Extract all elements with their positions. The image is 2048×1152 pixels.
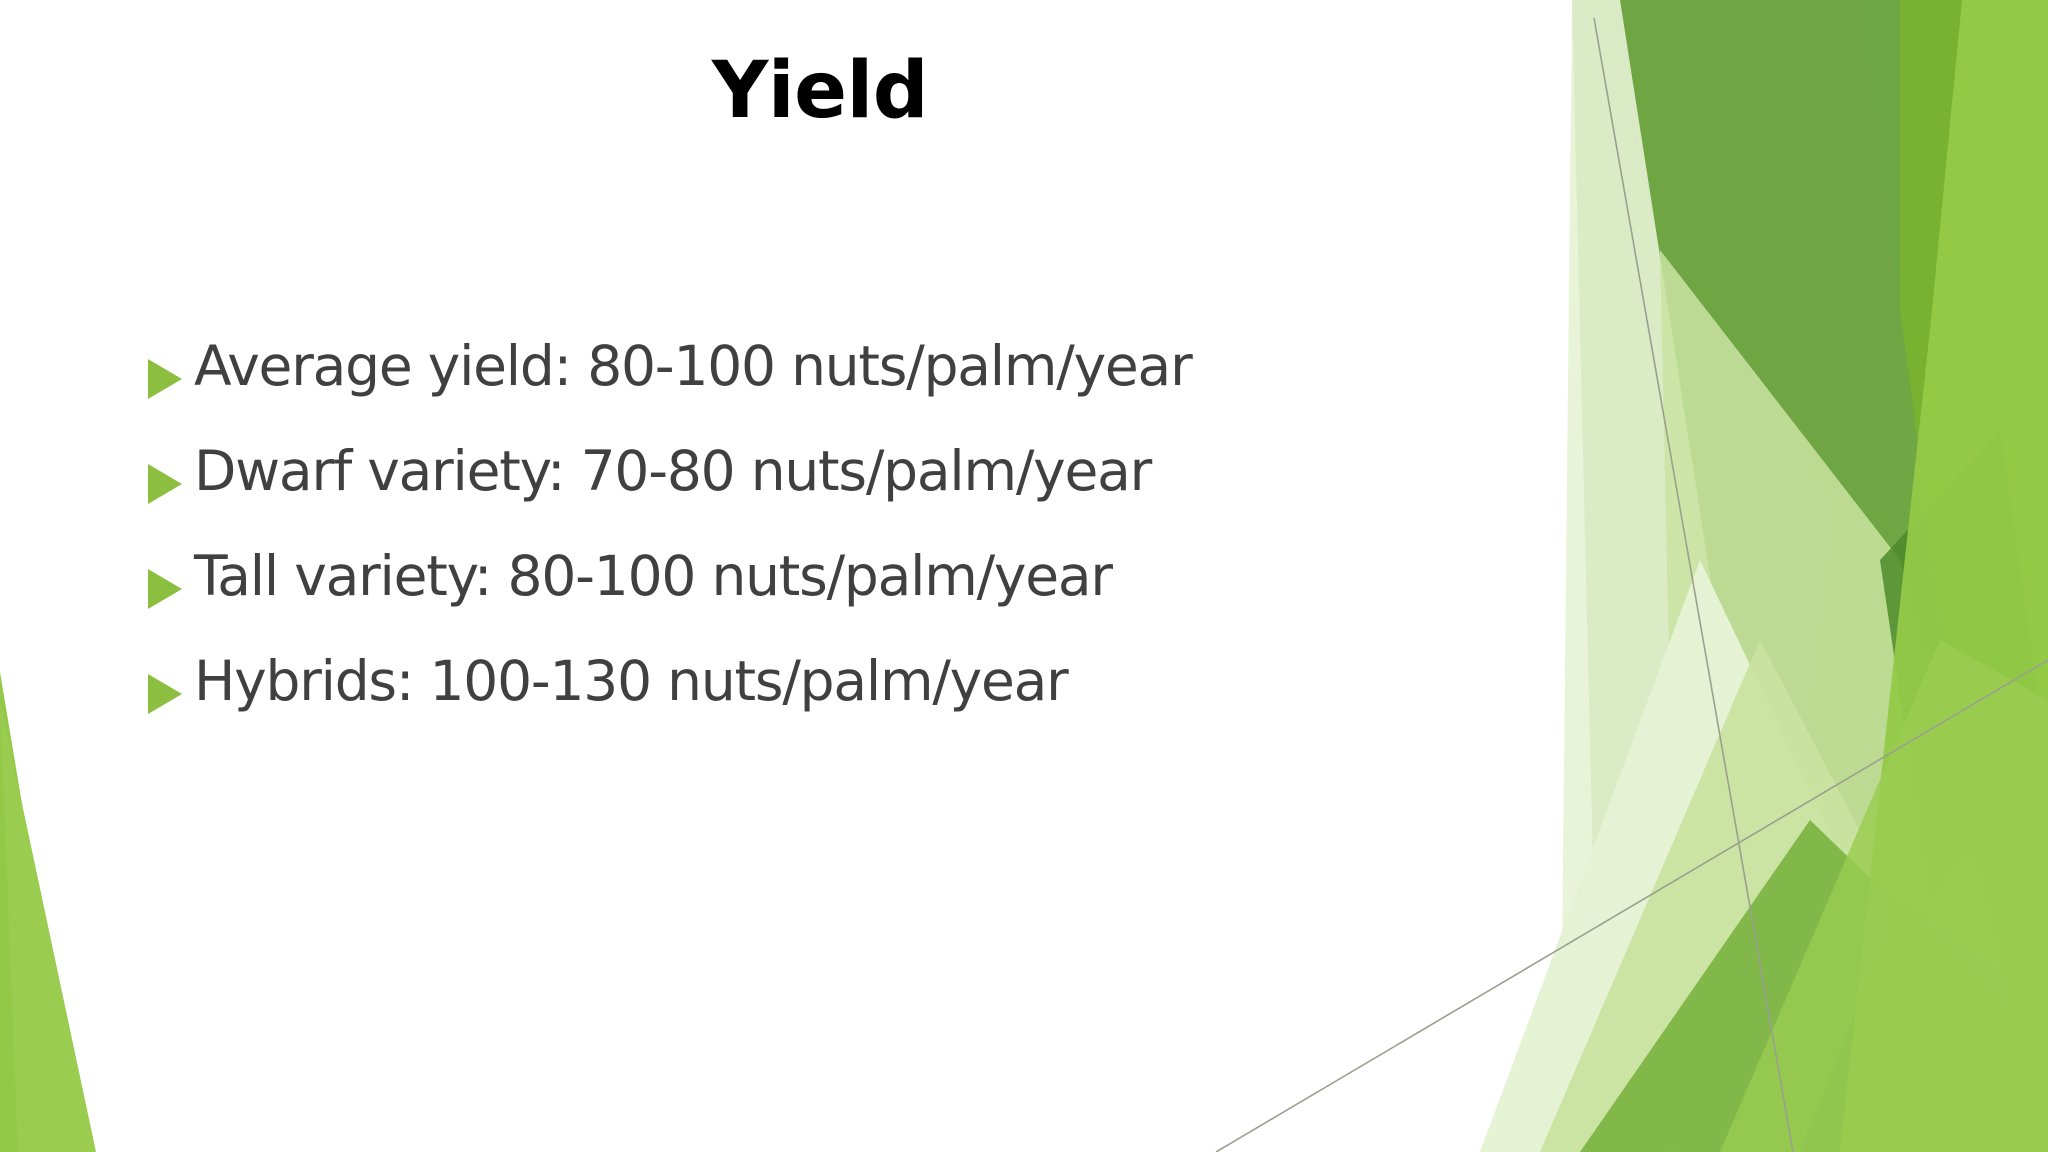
right-edge-bright-overlay <box>1840 0 2048 1152</box>
list-item: Hybrids: 100-130 nuts/palm/year <box>148 653 1488 758</box>
bullet-list: Average yield: 80-100 nuts/palm/year Dwa… <box>148 338 1488 758</box>
list-item: Tall variety: 80-100 nuts/palm/year <box>148 548 1488 653</box>
lower-light-facet <box>1540 640 1990 1152</box>
lower-dark-green-facet <box>1800 900 2048 1152</box>
presentation-slide: Yield Average yield: 80-100 nuts/palm/ye… <box>0 0 2048 1152</box>
triangle-bullet-icon <box>148 455 194 515</box>
bottom-right-bright-block <box>1720 640 2048 1152</box>
pale-green-sliver <box>1560 0 1800 1152</box>
triangle-bullet-icon <box>148 350 194 410</box>
lower-mid-green-facet <box>1580 820 2048 1152</box>
list-item-text: Average yield: 80-100 nuts/palm/year <box>194 338 1488 395</box>
deep-green-accent <box>1880 430 2048 900</box>
dark-green-panel <box>1572 0 2010 1152</box>
triangle-bullet-icon <box>148 665 194 725</box>
triangle-bullet-icon <box>148 560 194 620</box>
bottom-left-green-wedge-2 <box>0 700 96 1152</box>
right-olive-column <box>1760 0 1962 640</box>
light-green-band <box>1660 250 2048 1152</box>
right-bright-column <box>1760 0 2048 1152</box>
slide-title: Yield <box>0 52 1640 130</box>
list-item-text: Dwarf variety: 70-80 nuts/palm/year <box>194 443 1488 500</box>
list-item: Average yield: 80-100 nuts/palm/year <box>148 338 1488 443</box>
list-item: Dwarf variety: 70-80 nuts/palm/year <box>148 443 1488 548</box>
bottom-left-green-wedge <box>0 672 80 1152</box>
top-dark-green-triangle <box>1600 0 1900 560</box>
lower-pale-facet <box>1480 560 1900 1152</box>
list-item-text: Hybrids: 100-130 nuts/palm/year <box>194 653 1488 710</box>
hairline-diagonal-steep <box>1594 18 1793 1152</box>
list-item-text: Tall variety: 80-100 nuts/palm/year <box>194 548 1488 605</box>
